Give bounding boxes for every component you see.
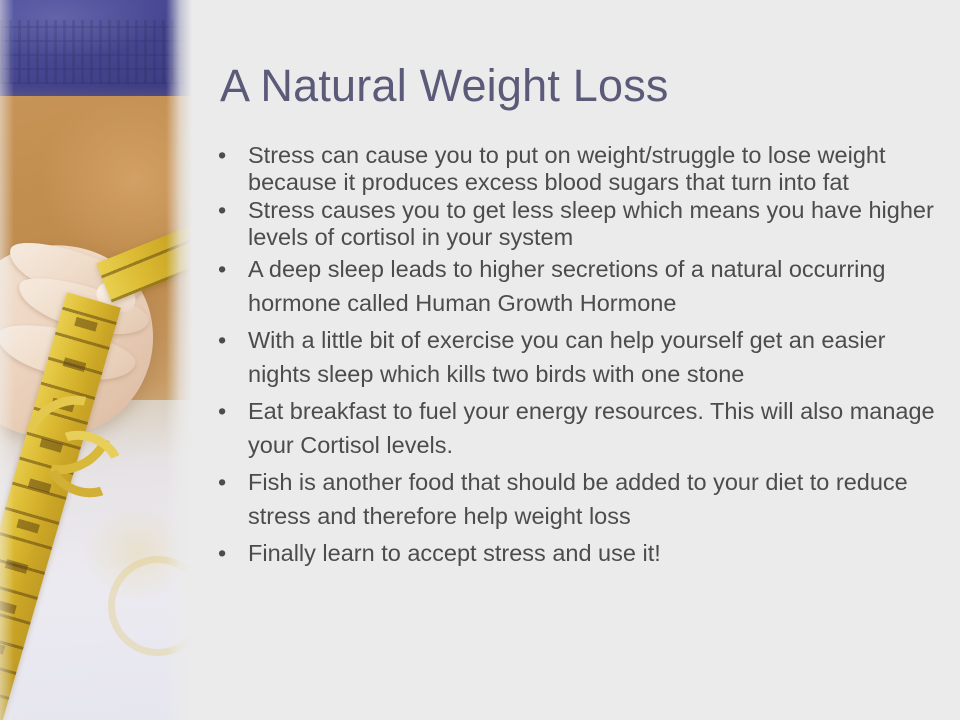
bullet-marker-icon: • xyxy=(218,142,226,169)
bullet-text: Finally learn to accept stress and use i… xyxy=(248,536,948,570)
slide-content: A Natural Weight Loss •Stress can cause … xyxy=(192,0,960,720)
bullet-marker-icon: • xyxy=(218,536,226,570)
bullet-item: •A deep sleep leads to higher secretions… xyxy=(204,252,948,320)
bullet-item: •Finally learn to accept stress and use … xyxy=(204,536,948,570)
bullet-text: Fish is another food that should be adde… xyxy=(248,465,948,533)
bullet-item: •Stress causes you to get less sleep whi… xyxy=(204,197,948,250)
bullet-marker-icon: • xyxy=(218,465,226,499)
bullet-text: Stress causes you to get less sleep whic… xyxy=(248,197,948,250)
bullet-list: •Stress can cause you to put on weight/s… xyxy=(204,142,948,573)
bullet-marker-icon: • xyxy=(218,323,226,357)
bullet-marker-icon: • xyxy=(218,252,226,286)
bullet-text: Stress can cause you to put on weight/st… xyxy=(248,142,948,195)
bullet-item: •Stress can cause you to put on weight/s… xyxy=(204,142,948,195)
bullet-marker-icon: • xyxy=(218,197,226,224)
bullet-text: A deep sleep leads to higher secretions … xyxy=(248,252,948,320)
bullet-marker-icon: • xyxy=(218,394,226,428)
presentation-slide: A Natural Weight Loss •Stress can cause … xyxy=(0,0,960,720)
photo-right-fade xyxy=(166,0,192,720)
bullet-item: •Eat breakfast to fuel your energy resou… xyxy=(204,394,948,462)
bullet-item: •Fish is another food that should be add… xyxy=(204,465,948,533)
bullet-text: With a little bit of exercise you can he… xyxy=(248,323,948,391)
slide-title: A Natural Weight Loss xyxy=(220,58,669,114)
photo-left-fade xyxy=(0,0,14,720)
bullet-text: Eat breakfast to fuel your energy resour… xyxy=(248,394,948,462)
bullet-item: •With a little bit of exercise you can h… xyxy=(204,323,948,391)
waist-measuring-photo xyxy=(0,0,192,720)
waistband-texture xyxy=(0,20,192,84)
